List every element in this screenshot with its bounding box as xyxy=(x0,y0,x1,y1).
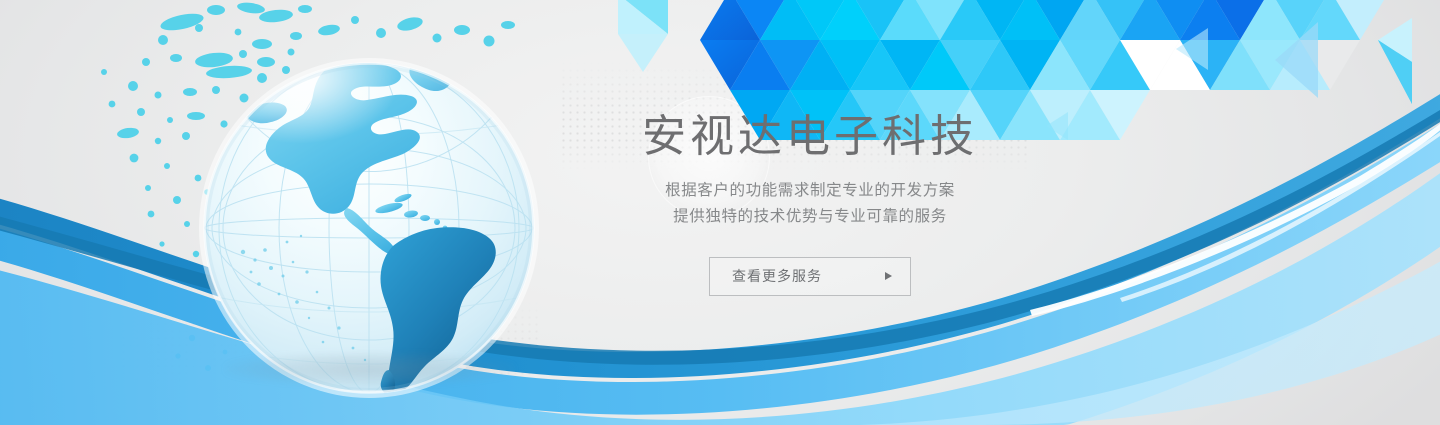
subtitle-line-2: 提供独特的技术优势与专业可靠的服务 xyxy=(600,204,1020,229)
hero-banner: 安视达电子科技 根据客户的功能需求制定专业的开发方案 提供独特的技术优势与专业可… xyxy=(0,0,1440,425)
globe-graphic xyxy=(197,56,541,400)
page-title: 安视达电子科技 xyxy=(600,110,1020,164)
subtitle-line-1: 根据客户的功能需求制定专业的开发方案 xyxy=(600,178,1020,203)
view-more-services-button[interactable]: 查看更多服务 xyxy=(709,257,911,296)
banner-copy: 安视达电子科技 根据客户的功能需求制定专业的开发方案 提供独特的技术优势与专业可… xyxy=(600,110,1020,296)
globe-shadow xyxy=(225,352,515,386)
cta-label: 查看更多服务 xyxy=(732,266,822,286)
triangle-right-icon xyxy=(885,272,892,280)
globe-americas-icon xyxy=(197,56,541,400)
